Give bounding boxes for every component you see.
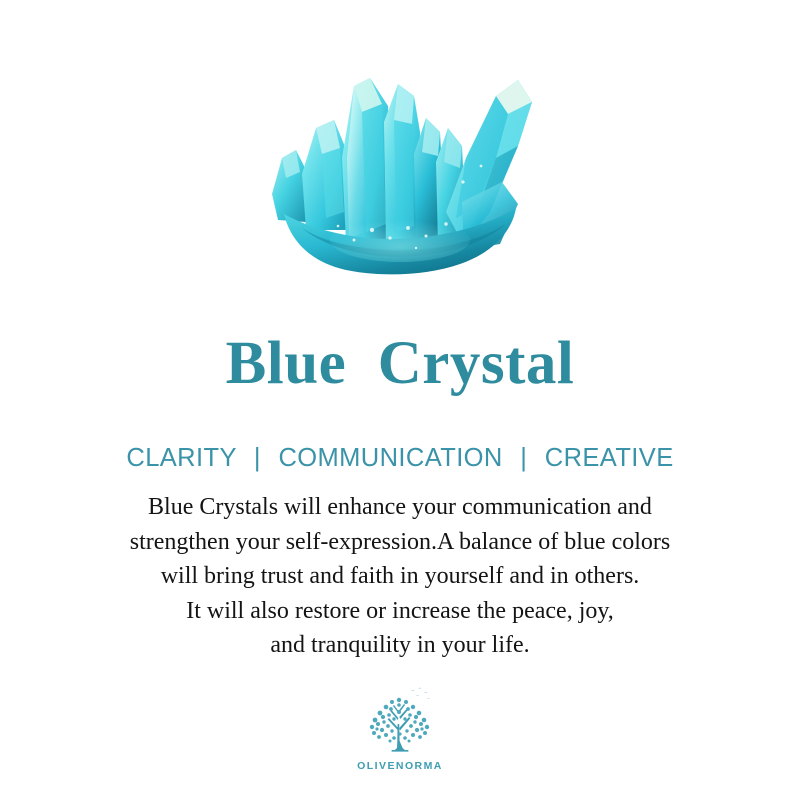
description-line: It will also restore or increase the pea… bbox=[0, 594, 800, 629]
keyword-separator: | bbox=[510, 444, 537, 472]
keyword-communication: COMMUNICATION bbox=[278, 444, 502, 472]
description-line: will bring trust and faith in yourself a… bbox=[0, 559, 800, 594]
description-line: strengthen your self-expression.A balanc… bbox=[0, 525, 800, 560]
olive-tree-icon bbox=[361, 684, 439, 760]
keyword-creative: CREATIVE bbox=[545, 444, 674, 472]
blue-crystal-cluster-icon bbox=[250, 62, 550, 277]
keyword-list: CLARITY | COMMUNICATION | CREATIVE bbox=[0, 444, 800, 472]
brand-name: OLIVENORMA bbox=[357, 761, 443, 772]
keyword-clarity: CLARITY bbox=[126, 444, 236, 472]
page-title: Blue Crystal bbox=[0, 333, 800, 395]
description-line: Blue Crystals will enhance your communic… bbox=[0, 490, 800, 525]
description-line: and tranquility in your life. bbox=[0, 628, 800, 663]
brand-logo: OLIVENORMA bbox=[0, 684, 800, 772]
description-paragraph: Blue Crystals will enhance your communic… bbox=[0, 490, 800, 663]
crystal-image bbox=[0, 62, 800, 277]
keyword-separator: | bbox=[244, 444, 271, 472]
product-info-card: Blue Crystal CLARITY | COMMUNICATION | C… bbox=[0, 0, 800, 800]
